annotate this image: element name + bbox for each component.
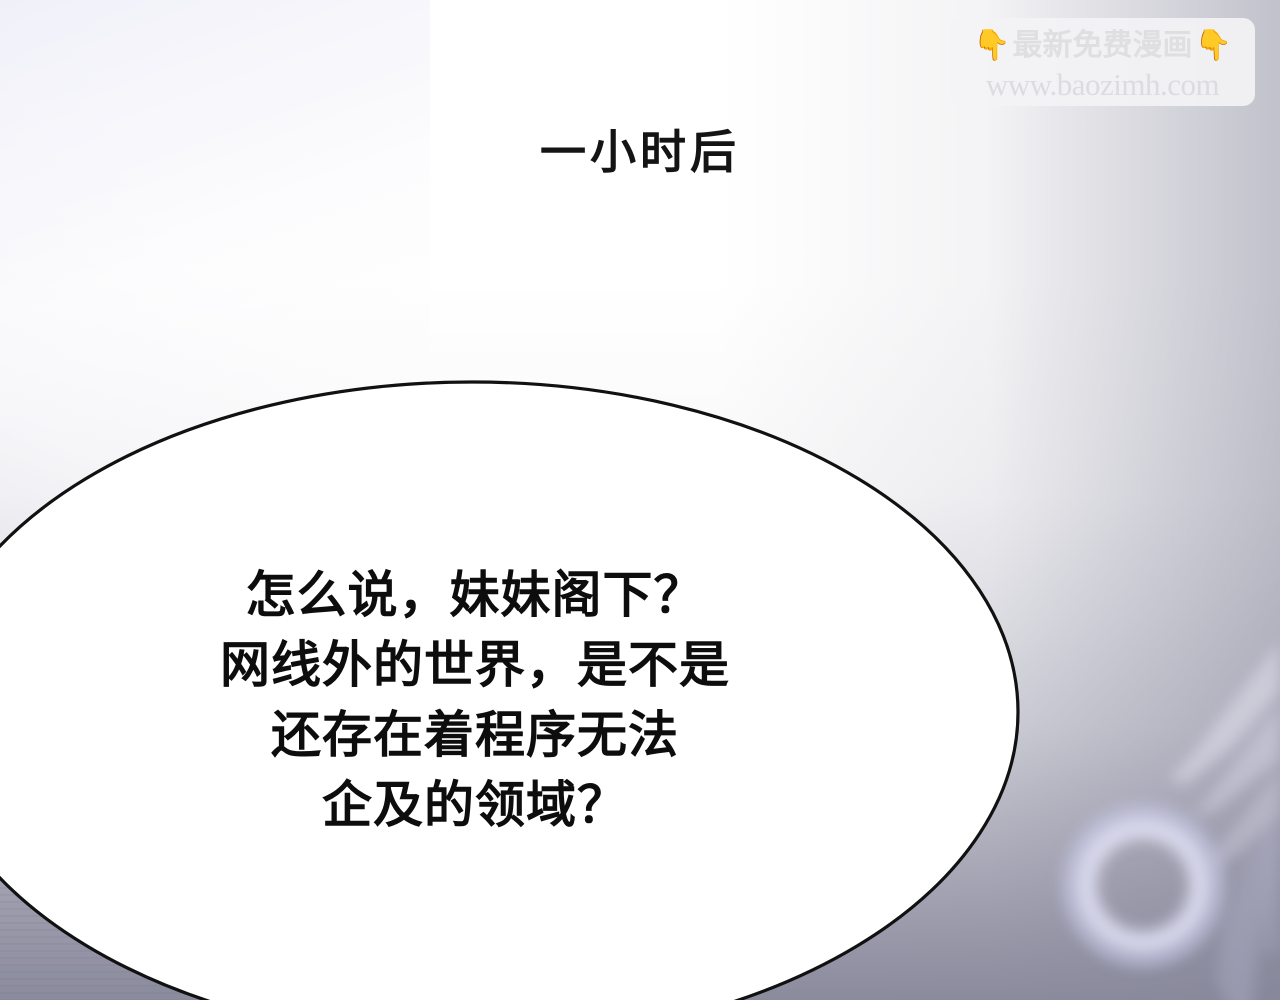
pointing-down-hand-icon-right: 👇 xyxy=(1195,31,1232,61)
comic-panel: 👇 最新免费漫画 👇 www.baozimh.com 一小时后 怎么说，妹妹阁下… xyxy=(0,0,1280,1000)
speech-line-1: 怎么说，妹妹阁下？ xyxy=(0,560,950,630)
pointing-down-hand-icon-left: 👇 xyxy=(973,31,1010,61)
background-topleft-tint xyxy=(0,0,430,430)
speech-line-2: 网线外的世界，是不是 xyxy=(0,630,950,700)
site-watermark: 👇 最新免费漫画 👇 www.baozimh.com xyxy=(950,18,1255,106)
speech-line-4: 企及的领域？ xyxy=(0,770,950,840)
watermark-label: 最新免费漫画 xyxy=(1013,31,1193,61)
blurred-glow-ring xyxy=(1058,800,1228,970)
speech-bubble-text: 怎么说，妹妹阁下？ 网线外的世界，是不是 还存在着程序无法 企及的领域？ xyxy=(0,560,950,840)
watermark-url: www.baozimh.com xyxy=(986,69,1219,100)
panel-caption: 一小时后 xyxy=(0,116,1280,182)
speech-line-3: 还存在着程序无法 xyxy=(0,700,950,770)
watermark-top-line: 👇 最新免费漫画 👇 xyxy=(973,27,1232,65)
